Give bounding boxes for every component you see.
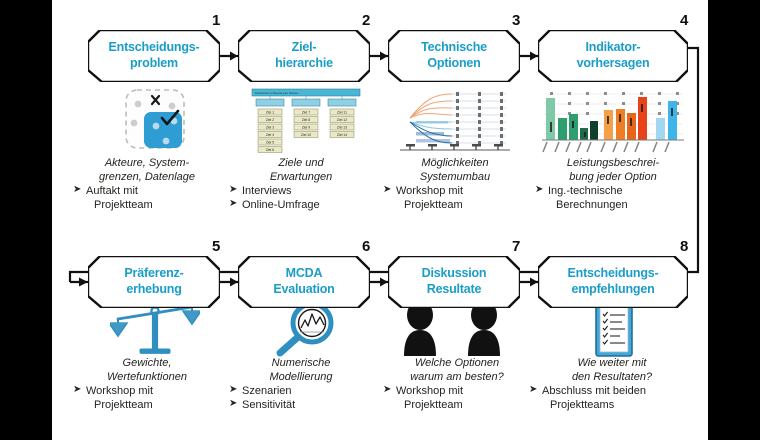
step-title-7b: Resultate xyxy=(427,282,481,296)
svg-text:Ziel 3: Ziel 3 xyxy=(266,126,274,130)
step-title-1b: problem xyxy=(130,56,178,70)
caption-2-line2: Erwartungen xyxy=(228,170,374,184)
step-caption-3: Möglichkeiten Systemumbau ➤Workshop mit … xyxy=(382,156,528,212)
bullet-arrow-icon: ➤ xyxy=(73,384,81,397)
decision-square-icon xyxy=(100,88,208,154)
step-box-7[interactable]: Diskussion Resultate xyxy=(388,256,520,308)
caption-5-line1: Gewichte, xyxy=(72,356,222,370)
caption-8-bullet-1: ➤Abschluss mit beiden xyxy=(528,384,696,398)
step-number-2: 2 xyxy=(362,12,370,29)
caption-3-line2: Systemumbau xyxy=(382,170,528,184)
step-box-5[interactable]: Präferenz- erhebung xyxy=(88,256,220,308)
step-box-2[interactable]: Ziel- hierarchie xyxy=(238,30,370,82)
step-title-5a: Präferenz- xyxy=(124,266,183,280)
bullet-arrow-icon: ➤ xyxy=(229,398,237,411)
step-caption-6: Numerische Modellierung ➤Szenarien ➤Sens… xyxy=(228,356,374,412)
step-box-1[interactable]: Entscheidungs- problem xyxy=(88,30,220,82)
caption-4-bullet-1b: Berechnungen xyxy=(534,198,692,212)
svg-text:Ziel 13: Ziel 13 xyxy=(337,126,347,130)
step-title-8b: empfehlungen xyxy=(571,282,654,296)
caption-8-line1: Wie weiter mit xyxy=(528,356,696,370)
caption-4-line2: bung jeder Option xyxy=(534,170,692,184)
caption-2-bullet-1: ➤Interviews xyxy=(228,184,374,198)
svg-text:Ziel 11: Ziel 11 xyxy=(337,111,347,115)
caption-6-bullet-2: ➤Sensitivität xyxy=(228,398,374,412)
caption-1-line2: grenzen, Datenlage xyxy=(72,170,222,184)
caption-1-bullet-1: ➤Auftakt mit xyxy=(72,184,222,198)
step-title-1a: Entscheidungs- xyxy=(109,40,200,54)
caption-4-line1: Leistungsbeschrei- xyxy=(534,156,692,170)
caption-5-bullet-1b: Projektteam xyxy=(72,398,222,412)
caption-6-line1: Numerische xyxy=(228,356,374,370)
magnifier-chart-icon xyxy=(264,302,348,358)
caption-3-bullet-1b: Projektteam xyxy=(382,198,528,212)
step-title-6b: Evaluation xyxy=(273,282,334,296)
bullet-arrow-icon: ➤ xyxy=(229,198,237,211)
step-title-5b: erhebung xyxy=(126,282,181,296)
caption-4-bullet-1: ➤Ing.-technische xyxy=(534,184,692,198)
step-caption-4: Leistungsbeschrei- bung jeder Option ➤In… xyxy=(534,156,692,212)
svg-text:Zielhierarchie zur Bewertung d: Zielhierarchie zur Bewertung der Optione… xyxy=(255,92,299,95)
caption-3-line1: Möglichkeiten xyxy=(382,156,528,170)
step-caption-5: Gewichte, Wertefunktionen ➤Workshop mit … xyxy=(72,356,222,412)
step-number-4: 4 xyxy=(680,12,688,29)
svg-text:Ziel 4: Ziel 4 xyxy=(266,133,274,137)
goal-hierarchy-icon: Zielhierarchie zur Bewertung der Optione… xyxy=(248,88,364,154)
step-number-3: 3 xyxy=(512,12,520,29)
step-caption-2: Ziele und Erwartungen ➤Interviews ➤Onlin… xyxy=(228,156,374,212)
step-title-6a: MCDA xyxy=(286,266,323,280)
caption-8-line2: den Resultaten? xyxy=(528,370,696,384)
step-box-3[interactable]: Technische Optionen xyxy=(388,30,520,82)
bullet-arrow-icon: ➤ xyxy=(229,184,237,197)
svg-text:Ziel 8: Ziel 8 xyxy=(302,118,310,122)
svg-text:Ziel 5: Ziel 5 xyxy=(266,141,274,145)
caption-1-line1: Akteure, System- xyxy=(72,156,222,170)
svg-text:Ziel 12: Ziel 12 xyxy=(337,118,347,122)
svg-text:Ziel 10: Ziel 10 xyxy=(301,133,311,137)
caption-2-line1: Ziele und xyxy=(228,156,374,170)
step-caption-8: Wie weiter mit den Resultaten? ➤Abschlus… xyxy=(528,356,696,412)
bullet-arrow-icon: ➤ xyxy=(73,184,81,197)
step-title-7a: Diskussion xyxy=(422,266,487,280)
step-title-3a: Technische xyxy=(421,40,487,54)
step-number-5: 5 xyxy=(212,238,220,255)
step-caption-1: Akteure, System- grenzen, Datenlage ➤Auf… xyxy=(72,156,222,212)
caption-7-bullet-1b: Projektteam xyxy=(382,398,532,412)
screenshot-stage: Entscheidungs- problem 1 Ziel- hierarchi… xyxy=(0,0,760,440)
caption-8-bullet-1b: Projektteams xyxy=(528,398,696,412)
step-title-4b: vorhersagen xyxy=(577,56,650,70)
caption-6-line2: Modellierung xyxy=(228,370,374,384)
svg-text:Ziel 6: Ziel 6 xyxy=(266,148,274,152)
network-flow-icon xyxy=(396,88,514,156)
svg-text:Ziel 7: Ziel 7 xyxy=(302,111,310,115)
bullet-arrow-icon: ➤ xyxy=(229,384,237,397)
caption-5-bullet-1: ➤Workshop mit xyxy=(72,384,222,398)
caption-3-bullet-1: ➤Workshop mit xyxy=(382,184,528,198)
svg-text:Ziel 14: Ziel 14 xyxy=(337,133,347,137)
step-number-1: 1 xyxy=(212,12,220,29)
step-caption-7: Welche Optionen warum am besten? ➤Worksh… xyxy=(382,356,532,412)
svg-text:Ziel 9: Ziel 9 xyxy=(302,126,310,130)
caption-6-bullet-1: ➤Szenarien xyxy=(228,384,374,398)
bullet-arrow-icon: ➤ xyxy=(383,384,391,397)
caption-5-line2: Wertefunktionen xyxy=(72,370,222,384)
diagram-canvas: Entscheidungs- problem 1 Ziel- hierarchi… xyxy=(52,0,708,440)
svg-text:Ziel 2: Ziel 2 xyxy=(266,118,274,122)
step-title-4a: Indikator- xyxy=(586,40,641,54)
step-title-2a: Ziel- xyxy=(292,40,317,54)
step-number-7: 7 xyxy=(512,238,520,255)
bullet-arrow-icon: ➤ xyxy=(529,384,537,397)
caption-7-line1: Welche Optionen xyxy=(382,356,532,370)
step-number-6: 6 xyxy=(362,238,370,255)
caption-7-bullet-1: ➤Workshop mit xyxy=(382,384,532,398)
balance-scale-icon xyxy=(110,304,200,358)
step-box-6[interactable]: MCDA Evaluation xyxy=(238,256,370,308)
step-title-8a: Entscheidungs- xyxy=(568,266,659,280)
step-box-8[interactable]: Entscheidungs- empfehlungen xyxy=(538,256,688,308)
bar-chart-icon xyxy=(540,88,686,158)
bullet-arrow-icon: ➤ xyxy=(535,184,543,197)
step-title-3b: Optionen xyxy=(427,56,480,70)
svg-text:Ziel 1: Ziel 1 xyxy=(266,111,274,115)
caption-7-line2: warum am besten? xyxy=(382,370,532,384)
step-title-2b: hierarchie xyxy=(275,56,333,70)
caption-2-bullet-2: ➤Online-Umfrage xyxy=(228,198,374,212)
step-box-4[interactable]: Indikator- vorhersagen xyxy=(538,30,688,82)
step-number-8: 8 xyxy=(680,238,688,255)
bullet-arrow-icon: ➤ xyxy=(383,184,391,197)
caption-1-bullet-1b: Projektteam xyxy=(72,198,222,212)
